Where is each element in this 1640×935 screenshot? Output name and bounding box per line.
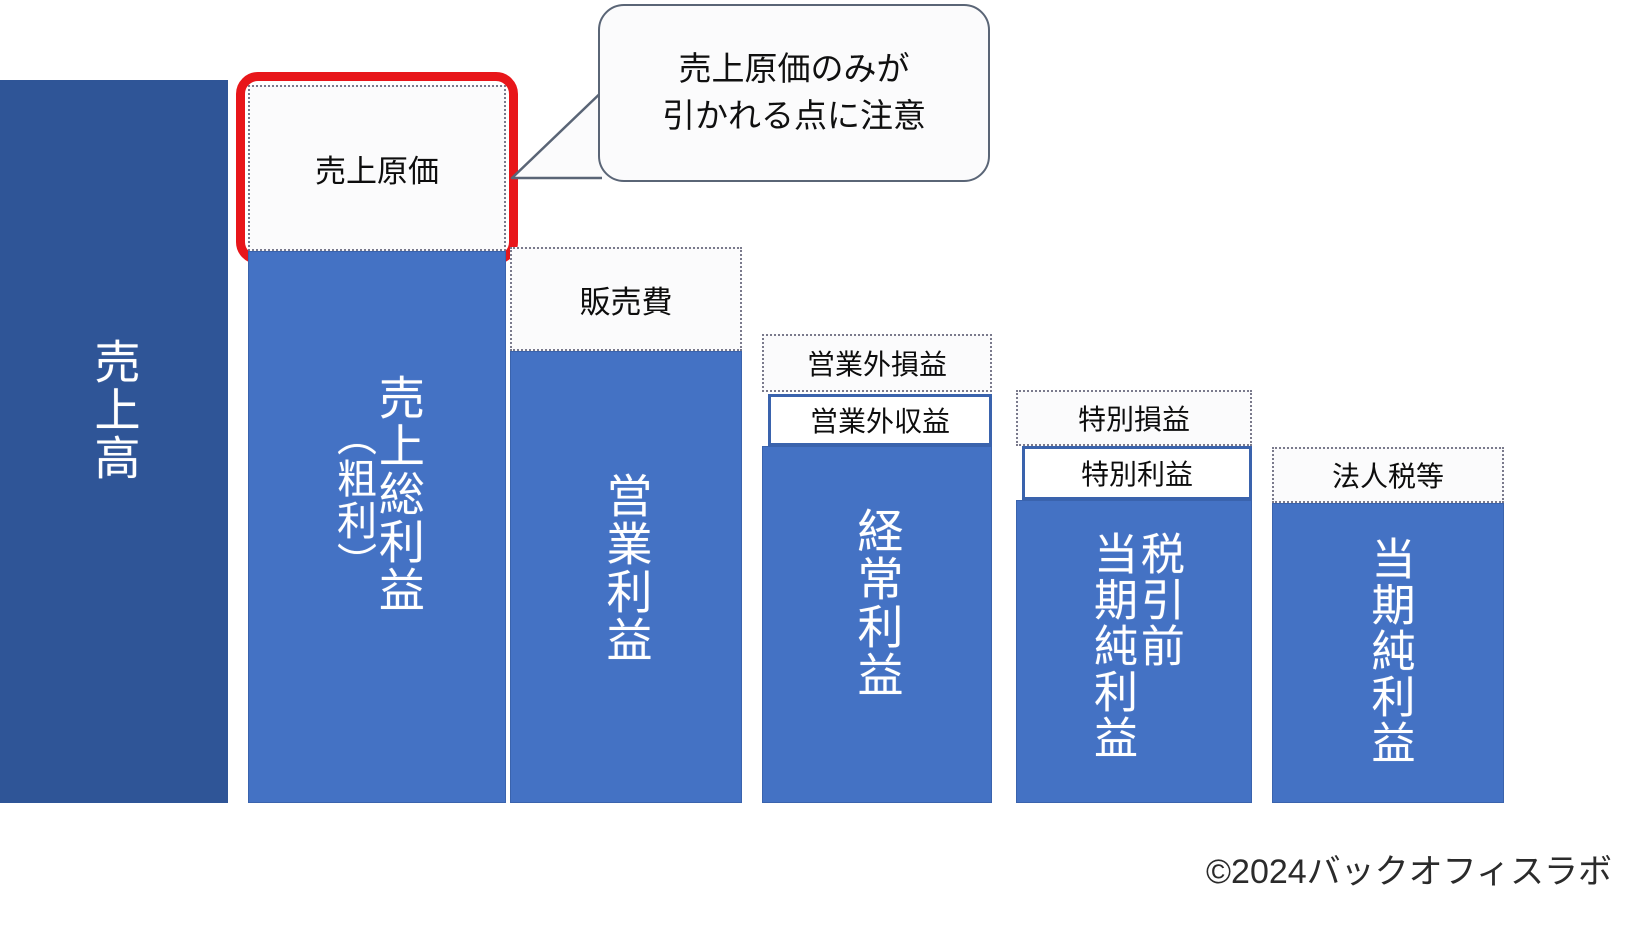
- callout-cost-of-sales-note[interactable]: 売上原価のみが 引かれる点に注意: [598, 4, 990, 182]
- deduction-selling-expenses[interactable]: 販売費: [510, 247, 742, 351]
- bar-net-sales-label-group: 売上高: [0, 338, 228, 482]
- deduction-non-operating-revenue-label: 営業外収益: [810, 400, 950, 440]
- deduction-cost-of-sales-label: 売上原価: [315, 146, 439, 191]
- deduction-extraordinary-gain-label: 特別利益: [1081, 453, 1193, 493]
- copyright-text: ©2024バックオフィスラボ: [1206, 853, 1612, 891]
- deduction-extraordinary-income-loss-label: 特別損益: [1078, 398, 1190, 438]
- callout-line-2: 引かれる点に注意: [662, 93, 926, 140]
- deduction-non-operating-income-expense[interactable]: 営業外損益: [762, 334, 992, 392]
- deduction-corporate-tax-label: 法人税等: [1332, 455, 1444, 495]
- bar-pretax-profit-label-sub: 税引前: [1135, 531, 1180, 669]
- bar-gross-profit[interactable]: 売上総利益 （粗利）: [248, 251, 506, 803]
- callout-line-1: 売上原価のみが: [662, 46, 926, 93]
- bar-operating-profit-label-group: 営業利益: [511, 472, 741, 664]
- bar-ordinary-profit-label: 経常利益: [854, 507, 901, 699]
- callout-text-block: 売上原価のみが 引かれる点に注意: [662, 46, 926, 140]
- bar-ordinary-profit[interactable]: 経常利益: [762, 446, 992, 803]
- bar-net-sales-label: 売上高: [91, 338, 138, 482]
- bar-net-profit[interactable]: 当期純利益: [1272, 503, 1504, 803]
- copyright-notice: ©2024バックオフィスラボ: [1206, 844, 1612, 893]
- deduction-corporate-tax[interactable]: 法人税等: [1272, 447, 1504, 503]
- bar-pretax-profit-label-main: 当期純利益: [1088, 531, 1133, 761]
- bar-operating-profit-label: 営業利益: [603, 472, 650, 664]
- deduction-cost-of-sales[interactable]: 売上原価: [248, 85, 506, 251]
- deduction-non-operating-revenue[interactable]: 営業外収益: [768, 394, 992, 446]
- deduction-non-operating-income-expense-label: 営業外損益: [807, 343, 947, 383]
- bar-ordinary-profit-label-group: 経常利益: [763, 507, 991, 699]
- bar-operating-profit[interactable]: 営業利益: [510, 351, 742, 803]
- profit-structure-diagram: 売上高 売上原価 売上総利益 （粗利） 販売費 営業利益 営業外損益 営業外収益…: [0, 0, 1640, 935]
- bar-net-sales[interactable]: 売上高: [0, 80, 228, 803]
- bar-net-profit-label: 当期純利益: [1366, 536, 1411, 766]
- bar-net-profit-label-group: 当期純利益: [1273, 536, 1503, 766]
- deduction-selling-expenses-label: 販売費: [580, 277, 673, 322]
- bar-gross-profit-label-sub: （粗利）: [332, 416, 373, 584]
- bar-gross-profit-label-group: 売上総利益 （粗利）: [249, 374, 505, 614]
- deduction-extraordinary-income-loss[interactable]: 特別損益: [1016, 390, 1252, 446]
- deduction-extraordinary-gain[interactable]: 特別利益: [1022, 446, 1252, 500]
- bar-gross-profit-label-main: 売上総利益: [375, 374, 422, 614]
- bar-pretax-profit[interactable]: 税引前 当期純利益: [1016, 500, 1252, 803]
- bar-pretax-profit-label-group: 税引前 当期純利益: [1017, 531, 1251, 761]
